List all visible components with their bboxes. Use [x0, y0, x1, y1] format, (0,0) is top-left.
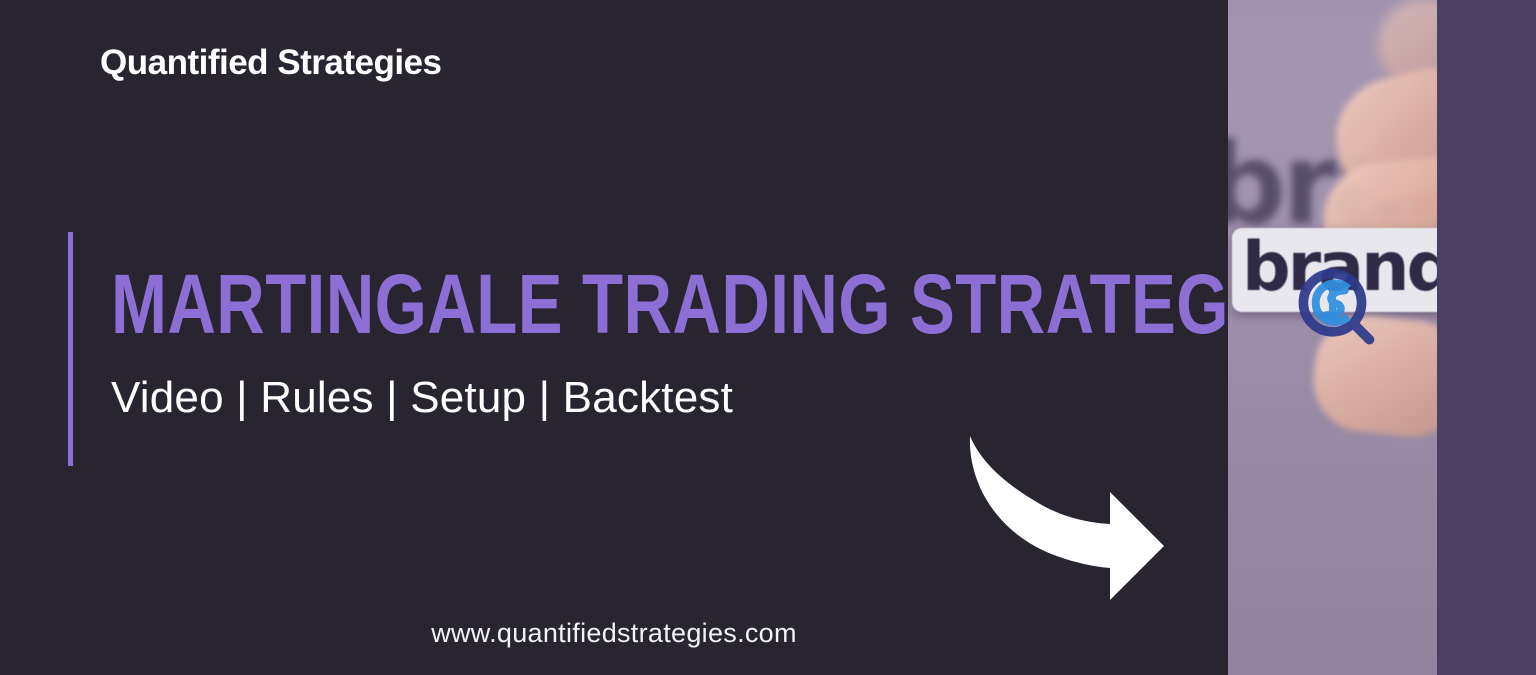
- hero-photo: bran brand: [1228, 0, 1437, 675]
- main-content-area: Quantified Strategies Martingale Trading…: [0, 0, 1228, 675]
- page-title: Martingale Trading Strategy: [111, 232, 1274, 348]
- brand-logo-text: Quantified Strategies: [100, 43, 442, 83]
- footer-website-url: www.quantifiedstrategies.com: [0, 618, 1228, 649]
- banner-image: Quantified Strategies Martingale Trading…: [0, 0, 1536, 675]
- curved-arrow-right-icon: [958, 428, 1168, 600]
- quantified-strategies-magnifier-logo: [1292, 264, 1380, 352]
- sticker-text-after: d: [1407, 228, 1437, 307]
- right-color-strip: [1437, 0, 1536, 675]
